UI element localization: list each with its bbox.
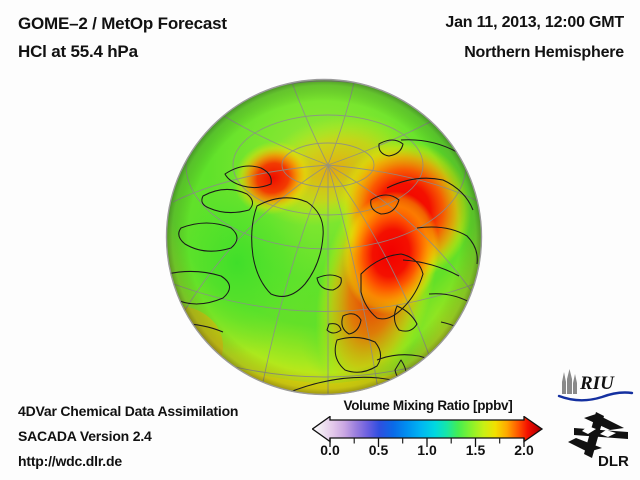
- valid-datetime-label: Jan 11, 2013, 12:00 GMT: [445, 14, 624, 32]
- page-title-instrument: GOME–2 / MetOp Forecast: [18, 14, 227, 34]
- limb-shading: [166, 79, 482, 395]
- method-label: 4DVar Chemical Data Assimilation: [18, 403, 238, 419]
- riu-tower-icon: [562, 369, 577, 394]
- dlr-wordmark: DLR: [598, 453, 629, 470]
- dlr-eagle-icon: [568, 412, 628, 458]
- colorbar: Volume Mixing Ratio [ppbv]: [312, 398, 544, 470]
- colorbar-tick-2: 1.0: [410, 442, 444, 458]
- colorbar-tick-4: 2.0: [507, 442, 541, 458]
- colorbar-tick-3: 1.5: [459, 442, 493, 458]
- dlr-logo: DLR: [566, 408, 634, 470]
- globe-svg: [165, 78, 483, 396]
- coastline-turkey: [417, 367, 447, 382]
- orthographic-globe-map: [165, 78, 483, 396]
- version-label: SACADA Version 2.4: [18, 428, 152, 444]
- colorbar-tick-1: 0.5: [362, 442, 396, 458]
- page-title-species: HCl at 55.4 hPa: [18, 42, 138, 62]
- colorbar-title: Volume Mixing Ratio [ppbv]: [312, 398, 544, 413]
- coastline-arabia: [451, 354, 477, 376]
- riu-wordmark: RIU: [579, 373, 615, 394]
- hemisphere-label: Northern Hemisphere: [464, 44, 624, 62]
- riu-logo: RIU: [556, 368, 634, 402]
- visualization-page: GOME–2 / MetOp Forecast HCl at 55.4 hPa …: [0, 0, 640, 480]
- colorbar-tick-0: 0.0: [313, 442, 347, 458]
- source-url-label[interactable]: http://wdc.dlr.de: [18, 453, 122, 469]
